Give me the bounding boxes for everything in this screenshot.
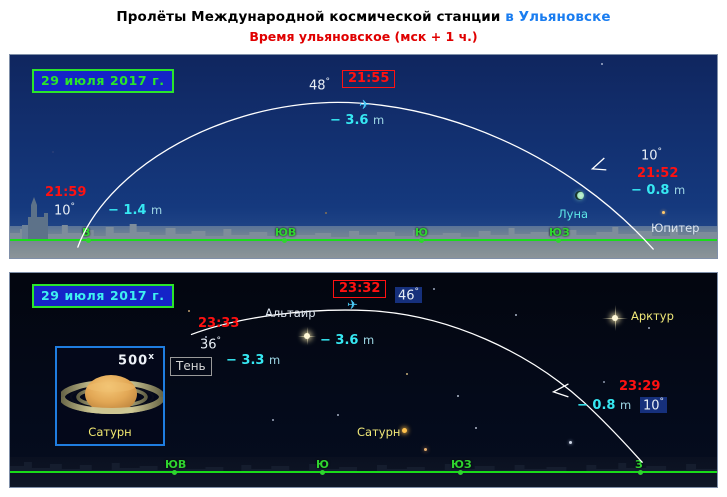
iss-marker-icon: ✈ — [347, 299, 358, 312]
direction-label-yuz: ЮЗ — [549, 226, 570, 239]
inset-planet-name: Сатурн — [57, 425, 163, 439]
background-star — [603, 381, 605, 383]
object-label-altair: Альтаир — [265, 306, 316, 320]
pass-magnitude-culmination: − 3.6 m — [320, 333, 374, 348]
iss-marker-icon: ✈ — [359, 99, 370, 112]
background-star — [433, 288, 435, 290]
pass-magnitude-culmination: − 3.6 m — [330, 113, 384, 128]
pass-altitude-set: 10° — [640, 397, 667, 413]
altair-star-icon — [298, 327, 316, 345]
saturn-image — [61, 370, 163, 422]
pass-altitude-culmination: 46° — [395, 287, 422, 303]
pass-magnitude-set: − 0.8 m — [631, 183, 685, 198]
iss-pass-chart: Пролёты Международной космической станци… — [0, 0, 727, 497]
object-label-moon: Луна — [558, 207, 588, 221]
page-title-main: Пролёты Международной космической станци… — [116, 9, 500, 25]
pass-time-shadow-entry: 23:33 — [198, 316, 239, 331]
background-star — [188, 310, 190, 312]
background-star — [272, 419, 274, 421]
horizon-line — [10, 239, 717, 241]
direction-label-yuv: ЮВ — [275, 226, 296, 239]
moon-icon — [575, 191, 584, 200]
object-label-jupiter: Юпитер — [651, 221, 699, 235]
pass-magnitude-rise: − 1.4 m — [108, 203, 162, 218]
city-skyline — [10, 219, 717, 241]
inset-zoom-label: 500x — [118, 352, 155, 368]
pass-magnitude-shadow-entry: − 3.3 m — [226, 353, 280, 368]
page-title-city: в Ульяновске — [505, 9, 610, 25]
pass-time-rise: 21:59 — [45, 185, 86, 200]
object-label-saturn: Сатурн — [357, 425, 400, 439]
pass-time-culmination: 21:55 — [342, 70, 395, 88]
direction-label-yuv: ЮВ — [165, 458, 186, 471]
background-star — [325, 212, 327, 214]
sky-panel-late-pass: ЮВ Ю ЮЗ З ✈ 29 июля 2017 г. 23:33 36° − … — [9, 272, 718, 488]
pass-magnitude-set: − 0.8 m — [577, 398, 631, 413]
saturn-inset-panel: 500x — [55, 346, 165, 446]
ground-light — [569, 441, 572, 444]
pass-altitude-rise: 10° — [54, 202, 75, 218]
horizon-line — [10, 471, 717, 473]
background-star — [601, 63, 603, 65]
object-label-arcturus: Арктур — [631, 309, 674, 323]
cathedral-silhouette — [22, 195, 56, 241]
pass-time-set: 21:52 — [637, 166, 678, 181]
direction-label-yu: Ю — [316, 458, 329, 471]
pass-time-culmination: 23:32 — [333, 280, 386, 298]
direction-label-yu: Ю — [415, 226, 428, 239]
pass-time-set: 23:29 — [619, 379, 660, 394]
background-star — [515, 314, 517, 316]
background-star — [52, 151, 54, 153]
direction-label-yuz: ЮЗ — [451, 458, 472, 471]
pass-altitude-shadow-entry: 36° — [200, 336, 221, 352]
saturn-icon — [402, 428, 407, 433]
ground-light — [424, 448, 427, 451]
shadow-label: Тень — [170, 357, 212, 376]
background-star — [475, 427, 477, 429]
background-star — [648, 327, 650, 329]
background-star — [337, 414, 339, 416]
date-badge: 29 июля 2017 г. — [32, 284, 174, 308]
arcturus-star-icon — [602, 305, 628, 331]
direction-label-v: В — [82, 226, 90, 239]
background-star — [457, 395, 459, 397]
date-badge: 29 июля 2017 г. — [32, 69, 174, 93]
direction-label-z: З — [635, 458, 643, 471]
jupiter-icon — [662, 211, 665, 214]
header: Пролёты Международной космической станци… — [0, 0, 727, 48]
page-subtitle: Время ульяновское (мск + 1 ч.) — [0, 29, 727, 44]
pass-altitude-set: 10° — [641, 147, 662, 163]
page-title: Пролёты Международной космической станци… — [0, 9, 727, 25]
background-star — [406, 373, 408, 375]
sky-panel-evening-pass: В ЮВ Ю ЮЗ ✈ 29 июля 2017 г. 21:59 10° − … — [9, 54, 718, 259]
pass-altitude-culmination: 48° — [309, 77, 330, 93]
